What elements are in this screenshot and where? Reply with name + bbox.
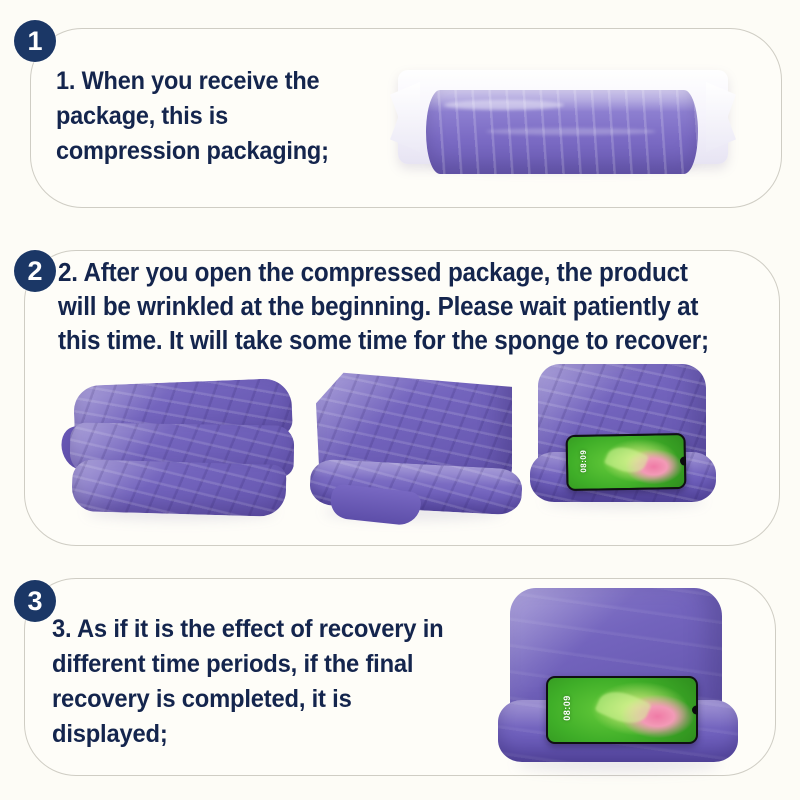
step-text-2: 2. After you open the compressed package… xyxy=(58,256,723,358)
roll-highlight xyxy=(444,100,564,110)
image-fully-recovered-stand-with-phone: 08:09 xyxy=(498,588,744,778)
image-compressed-vacuum-sealed-roll xyxy=(398,56,728,176)
step-badge-3: 3 xyxy=(14,580,56,622)
phone-camera-notch xyxy=(692,706,698,715)
phone-clock: 08:09 xyxy=(579,450,588,473)
sponge-roll xyxy=(426,90,698,174)
phone-clock: 08:09 xyxy=(562,695,572,721)
image-wrinkled-folded-cushion xyxy=(68,382,298,522)
step-text-1: 1. When you receive the package, this is… xyxy=(56,64,366,169)
wallpaper-leaf xyxy=(604,442,650,479)
step-badge-1: 1 xyxy=(14,20,56,62)
wrinkle-texture xyxy=(71,459,286,517)
step-text-3: 3. As if it is the effect of recovery in… xyxy=(52,612,451,752)
image-wrinkled-stand-with-phone: 08:09 xyxy=(530,364,720,514)
vacuum-bag xyxy=(398,70,728,164)
phone-screen: 08:09 xyxy=(568,435,685,489)
phone-device: 08:09 xyxy=(566,433,687,491)
step-badge-2: 2 xyxy=(14,250,56,292)
roll-highlight xyxy=(486,128,656,135)
image-partially-recovered-wedge-stand xyxy=(310,368,525,523)
phone-camera-notch xyxy=(680,456,687,465)
phone-screen: 08:09 xyxy=(548,678,696,742)
phone-device: 08:09 xyxy=(546,676,698,744)
fold-bottom xyxy=(71,459,286,517)
wallpaper-leaf xyxy=(595,684,653,731)
instruction-infographic: 1 1. When you receive the package, this … xyxy=(0,0,800,800)
